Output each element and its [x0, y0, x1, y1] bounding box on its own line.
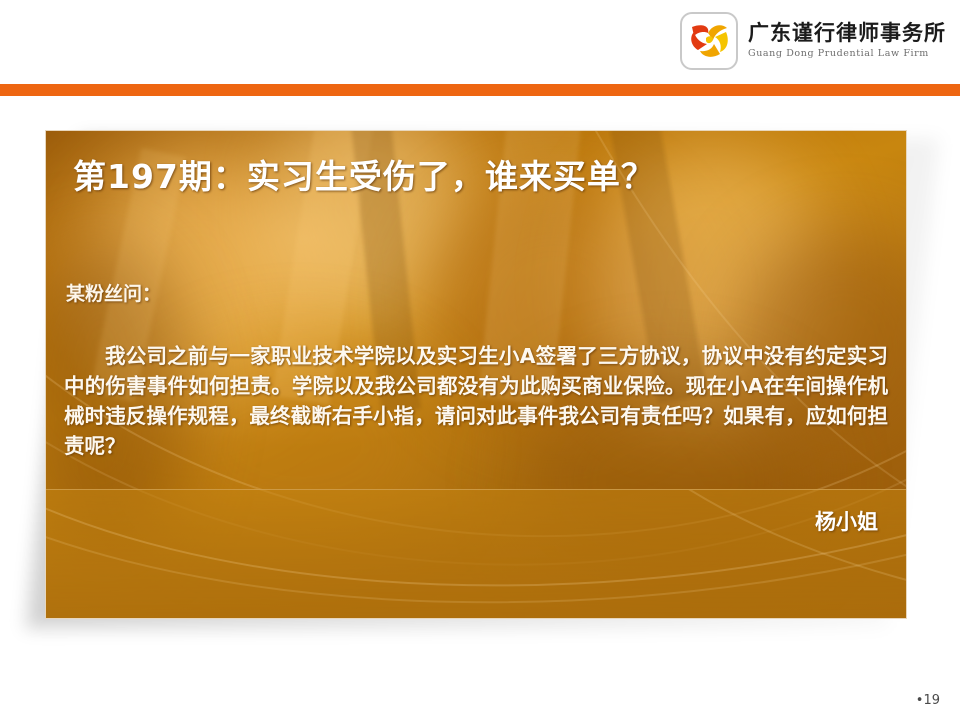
question-body: 我公司之前与一家职业技术学院以及实习生小A签署了三方协议，协议中没有约定实习中的… [64, 341, 888, 461]
content-panel: 第197期：实习生受伤了，谁来买单？ 某粉丝问： 我公司之前与一家职业技术学院以… [45, 130, 907, 619]
firm-name-en: Guang Dong Prudential Law Firm [748, 49, 946, 59]
firm-name-block: 广东谨行律师事务所 Guang Dong Prudential Law Firm [748, 23, 946, 59]
header-accent-rule [0, 84, 960, 96]
asker-label: 某粉丝问： [66, 279, 161, 306]
firm-brand: 广东谨行律师事务所 Guang Dong Prudential Law Firm [680, 12, 946, 70]
signature: 杨小姐 [815, 506, 878, 536]
firm-name-cn: 广东谨行律师事务所 [748, 23, 946, 44]
slide-stage: 第197期：实习生受伤了，谁来买单？ 某粉丝问： 我公司之前与一家职业技术学院以… [0, 96, 960, 720]
slide-header: 广东谨行律师事务所 Guang Dong Prudential Law Firm [0, 0, 960, 84]
slide-title: 第197期：实习生受伤了，谁来买单？ [73, 150, 655, 198]
page-number: •19 [916, 693, 940, 708]
pinwheel-logo-icon [680, 12, 738, 70]
panel-bottom-band [46, 489, 906, 618]
